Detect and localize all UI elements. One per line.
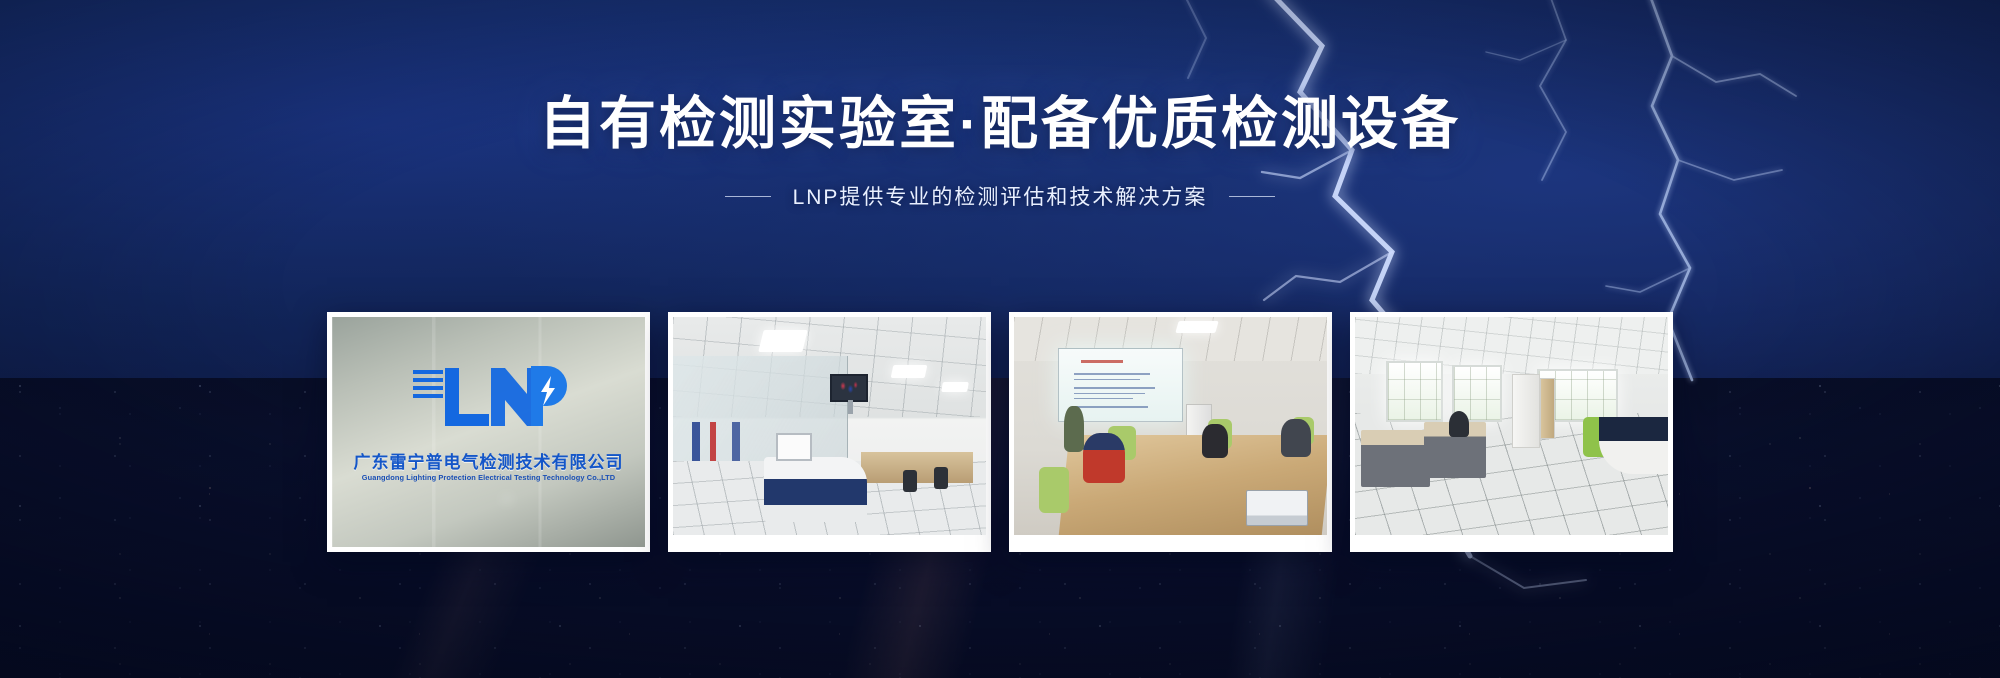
office-cabinet — [1512, 374, 1540, 448]
lab-office-bench — [861, 452, 974, 483]
photo-meeting-training-room — [1014, 317, 1327, 535]
ceiling-panel-light — [941, 382, 969, 392]
logo-wall-surface — [332, 317, 645, 547]
rule-left-icon — [725, 196, 771, 197]
lab-chair — [934, 467, 948, 489]
meeting-chair — [1039, 467, 1069, 513]
gallery-item-meeting-training-room[interactable] — [1009, 312, 1332, 552]
ceiling-panel-light — [1175, 321, 1218, 333]
subtitle-row: LNP提供专业的检测评估和技术解决方案 — [0, 181, 2000, 211]
gallery-item-company-logo-wall[interactable]: 广东雷宁普电气检测技术有限公司 Guangdong Lighting Prote… — [327, 312, 650, 552]
gallery-item-testing-laboratory[interactable] — [668, 312, 991, 552]
office-window — [1386, 361, 1442, 422]
lnp-logo-icon — [405, 362, 573, 428]
laptop — [1246, 490, 1308, 526]
console-monitor — [776, 433, 812, 461]
ceiling-panel-light — [758, 330, 807, 352]
photo-company-logo-wall: 广东雷宁普电气检测技术有限公司 Guangdong Lighting Prote… — [332, 317, 645, 547]
attendee-person — [1202, 424, 1228, 458]
attendee-person — [1083, 433, 1125, 483]
page-title: 自有检测实验室·配备优质检测设备 — [0, 96, 2000, 153]
lab-control-console — [764, 457, 867, 522]
photo-office-area — [1355, 317, 1668, 535]
lab-chair — [903, 470, 917, 492]
ceiling-panel-light — [891, 365, 928, 378]
logo-company-name-cn: 广东雷宁普电气检测技术有限公司 — [354, 448, 624, 473]
photo-testing-laboratory — [673, 317, 986, 535]
office-worker — [1449, 411, 1469, 437]
photo-gallery: 广东雷宁普电气检测技术有限公司 Guangdong Lighting Prote… — [0, 312, 2000, 552]
presenter-person — [1064, 406, 1084, 452]
hero-banner: 自有检测实验室·配备优质检测设备 LNP提供专业的检测评估和技术解决方案 — [0, 0, 2000, 678]
reception-counter — [1599, 417, 1668, 474]
rule-right-icon — [1229, 196, 1275, 197]
logo-company-name-en: Guangdong Lighting Protection Electrical… — [362, 473, 615, 482]
office-desk — [1361, 430, 1430, 487]
wall-mounted-monitor — [830, 374, 868, 402]
gallery-item-office-area[interactable] — [1350, 312, 1673, 552]
slide-heading — [1081, 360, 1123, 363]
banner-copy: 自有检测实验室·配备优质检测设备 LNP提供专业的检测评估和技术解决方案 — [0, 96, 2000, 211]
attendee-person — [1281, 419, 1311, 457]
page-subtitle: LNP提供专业的检测评估和技术解决方案 — [793, 181, 1208, 211]
office-shelf — [1540, 378, 1556, 439]
